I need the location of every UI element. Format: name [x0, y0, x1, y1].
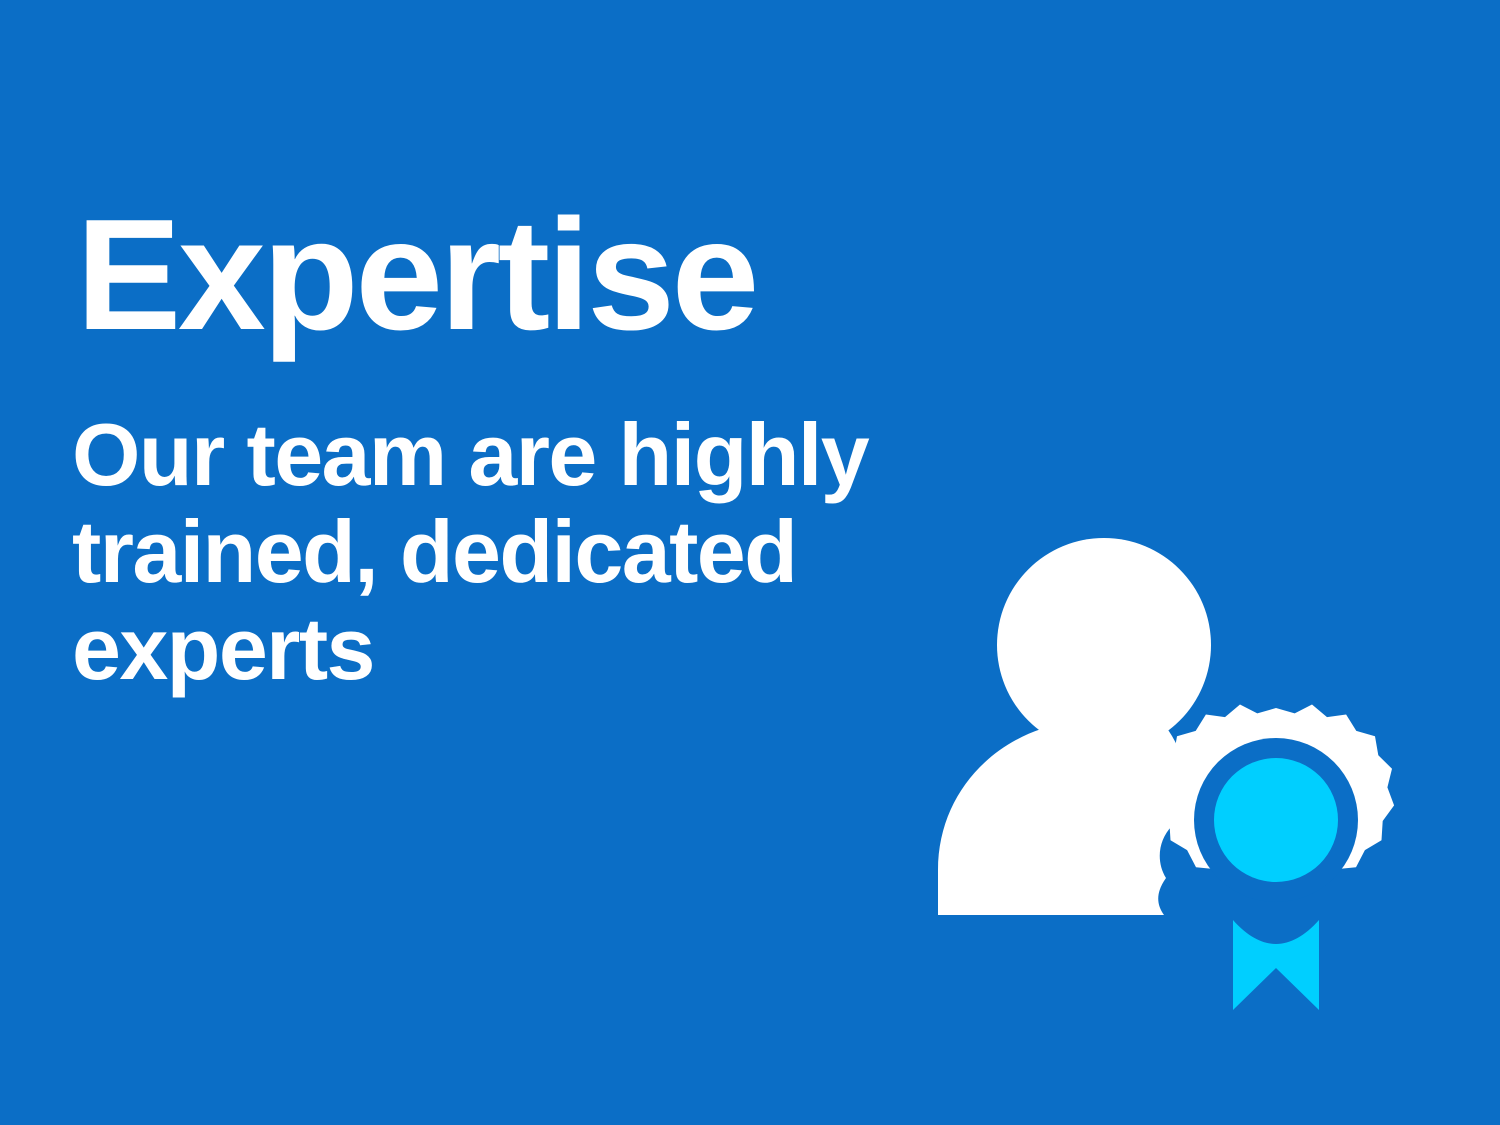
subtitle-line-3: experts	[72, 600, 952, 697]
award-ribbon	[1233, 920, 1319, 1010]
text-block: Expertise Our team are highly trained, d…	[72, 196, 952, 697]
award-badge-icon	[1158, 705, 1394, 1011]
person-icon	[938, 538, 1211, 915]
award-center-disc	[1214, 758, 1338, 882]
subtitle-line-1: Our team are highly	[72, 406, 952, 503]
person-head-circle	[997, 538, 1211, 752]
person-shoulders-dome	[938, 722, 1186, 915]
subtitle-line-2: trained, dedicated	[72, 503, 952, 600]
page-title: Expertise	[76, 196, 952, 354]
certified-person-icon	[900, 500, 1420, 1060]
slide-canvas: Expertise Our team are highly trained, d…	[0, 0, 1500, 1125]
subtitle-paragraph: Our team are highly trained, dedicated e…	[72, 406, 952, 697]
